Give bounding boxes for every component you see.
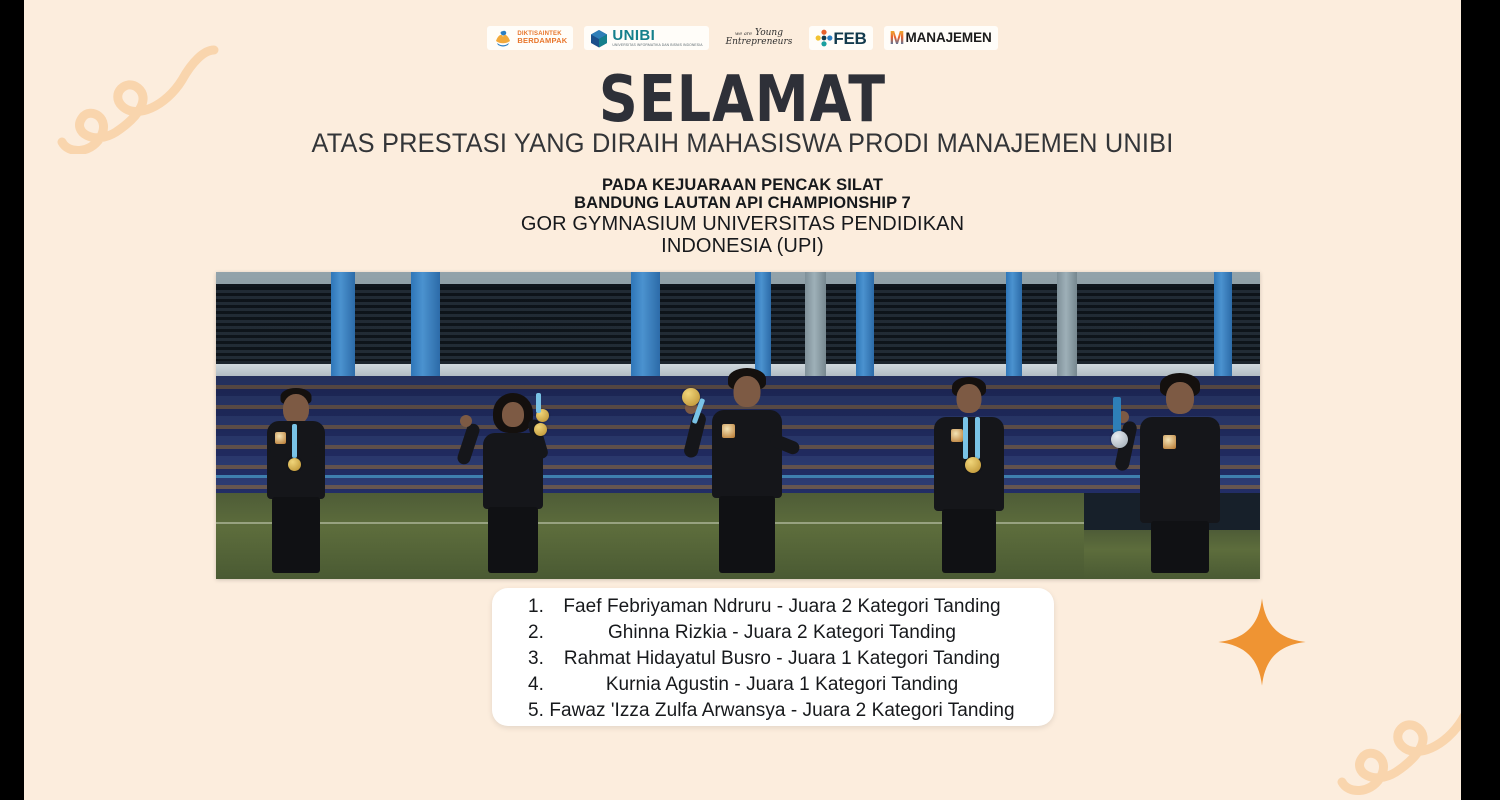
winner-row: 2. Ghinna Rizkia - Juara 2 Kategori Tand… (492, 622, 1054, 648)
event-details: PADA KEJUARAAN PENCAK SILAT BANDUNG LAUT… (24, 176, 1461, 258)
winner-row: 3. Rahmat Hidayatul Busro - Juara 1 Kate… (492, 648, 1054, 674)
feb-logo: FEB (809, 26, 872, 50)
sparkle-star-icon (1210, 590, 1314, 694)
page-subtitle: ATAS PRESTASI YANG DIRAIH MAHASISWA PROD… (67, 128, 1418, 159)
winner-number: 2. (492, 622, 544, 644)
photo-strip (216, 272, 1260, 579)
photo-athlete-1 (216, 272, 402, 579)
slide-canvas: DIKTISAINTEK BERDAMPAK UNIBI UNIVERSITAS… (24, 0, 1461, 800)
winner-name: Fawaz 'Izza Zulfa Arwansya - Juara 2 Kat… (544, 700, 1054, 722)
winner-name: Faef Febriyaman Ndruru - Juara 2 Kategor… (544, 596, 1054, 618)
winners-card: 1. Faef Febriyaman Ndruru - Juara 2 Kate… (492, 588, 1054, 726)
winner-row: 4. Kurnia Agustin - Juara 1 Kategori Tan… (492, 674, 1054, 700)
unibi-logo: UNIBI UNIVERSITAS INFORMATIKA DAN BISNIS… (584, 26, 708, 50)
page-title-text: SELAMAT (599, 62, 886, 136)
photo-athlete-3 (626, 272, 856, 579)
unibi-wordmark: UNIBI UNIVERSITAS INFORMATIKA DAN BISNIS… (612, 28, 702, 47)
unibi-cube-icon (590, 29, 608, 48)
feb-emblem-icon (815, 29, 833, 47)
young-entrepreneurs-logo: we are Young Entrepreneurs (720, 26, 799, 50)
event-line-4: INDONESIA (UPI) (24, 235, 1461, 257)
logo-row: DIKTISAINTEK BERDAMPAK UNIBI UNIVERSITAS… (24, 26, 1461, 50)
young-script-line2: Entrepreneurs (726, 37, 793, 47)
winner-number: 5. (492, 700, 544, 722)
young-entrepreneurs-script: we are Young Entrepreneurs (726, 29, 793, 48)
photo-athlete-2 (402, 272, 626, 579)
winner-name: Kurnia Agustin - Juara 1 Kategori Tandin… (544, 674, 1054, 696)
winner-number: 3. (492, 648, 544, 670)
feb-word: FEB (833, 30, 866, 47)
diktisaintek-emblem-icon (493, 29, 513, 47)
unibi-word: UNIBI (612, 28, 702, 43)
photo-athlete-4 (856, 272, 1084, 579)
photo-athlete-5 (1084, 272, 1260, 579)
unibi-tagline: UNIVERSITAS INFORMATIKA DAN BISNIS INDON… (612, 44, 702, 47)
diktisaintek-line2: BERDAMPAK (517, 37, 567, 45)
winner-name: Ghinna Rizkia - Juara 2 Kategori Tanding (544, 622, 1054, 644)
manajemen-word: MANAJEMEN (906, 31, 992, 45)
winner-number: 1. (492, 596, 544, 618)
manajemen-initial: M (890, 29, 905, 47)
slide-stage: DIKTISAINTEK BERDAMPAK UNIBI UNIVERSITAS… (0, 0, 1500, 800)
winner-name: Rahmat Hidayatul Busro - Juara 1 Kategor… (544, 648, 1054, 670)
manajemen-logo: M MANAJEMEN (884, 26, 998, 50)
event-line-3: GOR GYMNASIUM UNIVERSITAS PENDIDIKAN (24, 213, 1461, 235)
winner-row: 5. Fawaz 'Izza Zulfa Arwansya - Juara 2 … (492, 700, 1054, 726)
squiggle-bottom-right-icon (1334, 652, 1461, 800)
young-script-small: we are (735, 31, 752, 37)
diktisaintek-wordmark: DIKTISAINTEK BERDAMPAK (517, 31, 567, 45)
diktisaintek-berdampak-logo: DIKTISAINTEK BERDAMPAK (487, 26, 573, 50)
event-line-1: PADA KEJUARAAN PENCAK SILAT (24, 176, 1461, 194)
event-line-2: BANDUNG LAUTAN API CHAMPIONSHIP 7 (24, 194, 1461, 212)
page-title: SELAMAT (24, 62, 1461, 125)
winner-row: 1. Faef Febriyaman Ndruru - Juara 2 Kate… (492, 596, 1054, 622)
winner-number: 4. (492, 674, 544, 696)
